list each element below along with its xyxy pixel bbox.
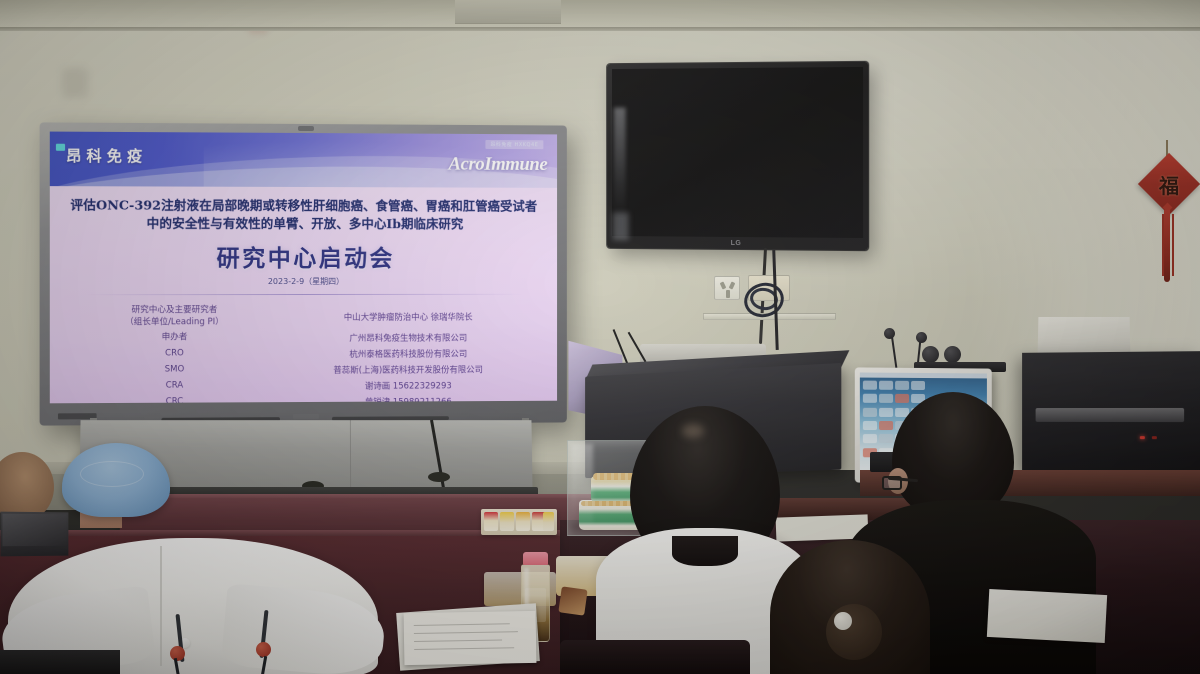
row-label: CRA bbox=[70, 378, 278, 395]
printer[interactable] bbox=[1022, 351, 1200, 473]
cord-bead bbox=[170, 646, 185, 661]
desktop-icon bbox=[879, 381, 893, 390]
fu-charm-decoration: 福 bbox=[1140, 140, 1196, 290]
ceiling-vent bbox=[455, 0, 561, 24]
bottle-cap bbox=[523, 552, 548, 565]
attendee-center-collar bbox=[672, 536, 738, 566]
text-line bbox=[414, 631, 518, 634]
outlet-slot bbox=[726, 290, 730, 298]
study-title-line-1: 评估ONC-392注射液在局部晚期或转移性肝细胞癌、食管癌、胃癌和肛管癌受试者 bbox=[70, 196, 537, 215]
power-outlet[interactable] bbox=[714, 276, 740, 300]
row-label: SMO bbox=[70, 362, 278, 379]
hair-tie bbox=[834, 612, 852, 630]
charm-tassel bbox=[1164, 210, 1170, 282]
charm-tassel-strand bbox=[1172, 214, 1174, 276]
dessert-piece bbox=[516, 512, 530, 531]
ceiling-molding bbox=[0, 27, 1200, 31]
hair-highlight bbox=[682, 424, 704, 438]
row-label: 申办者 bbox=[70, 330, 278, 347]
row-label-line-2: （组长单位/Leading PI） bbox=[70, 317, 278, 329]
brand-name-en: AcroImmune bbox=[448, 154, 547, 176]
chair-left bbox=[0, 650, 120, 674]
study-title-line-2: 中的安全性与有效性的单臂、开放、多中心Ib期临床研究 bbox=[70, 215, 537, 234]
display-ir-receiver bbox=[536, 413, 554, 418]
desktop-icon bbox=[911, 381, 925, 390]
presentation-display[interactable]: 昂科免疫 昂科免疫 HXKQ4E AcroImmune 评估ONC-392注射液… bbox=[40, 122, 567, 425]
row-label: CRO bbox=[70, 346, 278, 363]
ceiling bbox=[0, 0, 1200, 30]
slide-divider bbox=[84, 294, 523, 295]
row-value: 杭州泰格医药科技股份有限公司 bbox=[278, 346, 538, 363]
slide-body: 评估ONC-392注射液在局部晚期或转移性肝细胞癌、食管癌、胃癌和肛管癌受试者 … bbox=[50, 186, 557, 403]
desktop-icon bbox=[895, 394, 909, 403]
uniform-seam bbox=[160, 546, 162, 666]
laptop[interactable] bbox=[0, 512, 68, 557]
table-row: CRO 杭州泰格医药科技股份有限公司 bbox=[70, 346, 537, 363]
desktop-icon bbox=[879, 434, 893, 443]
cord-bead-secondary bbox=[256, 642, 271, 657]
table-row: CRC 曾锐津 15989211266 bbox=[70, 393, 537, 403]
stand-knob bbox=[428, 472, 450, 482]
text-line bbox=[414, 639, 502, 642]
row-value: 中山大学肿瘤防治中心 徐瑞华院长 bbox=[278, 303, 538, 330]
wall-mark bbox=[62, 68, 88, 98]
microphone-icon bbox=[884, 328, 895, 339]
presentation-slide: 昂科免疫 昂科免疫 HXKQ4E AcroImmune 评估ONC-392注射液… bbox=[50, 132, 557, 404]
desktop-icon bbox=[879, 408, 893, 417]
speaker-driver-secondary bbox=[944, 346, 961, 363]
slide-header-banner: 昂科免疫 昂科免疫 HXKQ4E AcroImmune bbox=[50, 132, 557, 188]
desktop-icon bbox=[879, 421, 893, 430]
fu-character: 福 bbox=[1147, 162, 1191, 206]
document-sheet-right bbox=[987, 589, 1107, 643]
desktop-icon bbox=[863, 421, 877, 430]
cap-fold bbox=[80, 461, 144, 487]
row-value: 谢诗画 15622329293 bbox=[278, 377, 538, 394]
row-value: 曾锐津 15989211266 bbox=[278, 393, 538, 403]
dessert-piece bbox=[500, 512, 514, 531]
tv-glare-lower bbox=[613, 212, 629, 240]
desktop-icon bbox=[863, 407, 877, 416]
row-label-line-1: 研究中心及主要研究者 bbox=[70, 305, 278, 317]
chair-back bbox=[560, 640, 750, 674]
printer-tray[interactable] bbox=[1036, 408, 1185, 422]
dessert-piece bbox=[484, 512, 498, 531]
printer-status-led bbox=[1140, 436, 1145, 439]
desktop-icon bbox=[863, 434, 877, 443]
row-label: 研究中心及主要研究者 （组长单位/Leading PI） bbox=[70, 303, 278, 330]
table-row: 研究中心及主要研究者 （组长单位/Leading PI） 中山大学肿瘤防治中心 … bbox=[70, 303, 537, 331]
printer-status-led-secondary bbox=[1152, 436, 1157, 439]
uniform-panel-right bbox=[221, 583, 388, 674]
desktop-icon bbox=[863, 394, 877, 403]
row-value: 广州昂科免疫生物技术有限公司 bbox=[278, 330, 538, 347]
desktop-speakers bbox=[922, 346, 992, 370]
case-glass-glare bbox=[571, 444, 593, 524]
laptop-lid bbox=[2, 514, 66, 547]
table-row: SMO 普蕊斯(上海)医药科技开发股份有限公司 bbox=[70, 361, 537, 379]
text-line bbox=[414, 647, 514, 650]
brand-registration-text: 昂科免疫 HXKQ4E bbox=[485, 140, 543, 149]
desktop-icon bbox=[895, 381, 909, 390]
speaker-driver bbox=[922, 346, 939, 363]
dessert-tray bbox=[481, 509, 557, 535]
outlet-slot bbox=[729, 281, 736, 289]
desktop-menubar bbox=[860, 372, 987, 378]
display-logo bbox=[293, 414, 319, 419]
desktop-icon bbox=[879, 394, 893, 403]
slide-date: 2023-2-9（星期四） bbox=[70, 276, 537, 287]
lg-logo: LG bbox=[731, 240, 742, 247]
table-row: 申办者 广州昂科免疫生物技术有限公司 bbox=[70, 330, 537, 347]
study-info-table: 研究中心及主要研究者 （组长单位/Leading PI） 中山大学肿瘤防治中心 … bbox=[70, 303, 537, 403]
wall-tv[interactable]: LG bbox=[607, 62, 868, 250]
document-sheet bbox=[404, 611, 537, 665]
slide-subtitle: 研究中心启动会 bbox=[70, 239, 537, 273]
outlet-slot bbox=[720, 281, 727, 289]
row-value: 普蕊斯(上海)医药科技开发股份有限公司 bbox=[278, 361, 538, 378]
paper-stack bbox=[1038, 317, 1131, 355]
display-bezel: 昂科免疫 昂科免疫 HXKQ4E AcroImmune 评估ONC-392注射液… bbox=[40, 122, 567, 425]
meeting-room-photo: LG 福 昂科免疫 昂科免疫 HX bbox=[0, 0, 1200, 674]
panel-seam bbox=[350, 420, 351, 490]
tv-glare bbox=[614, 108, 626, 217]
brand-name-cn: 昂科免疫 bbox=[66, 145, 147, 167]
attendee-hair-bun bbox=[826, 604, 882, 660]
brand-mark-icon bbox=[56, 144, 65, 151]
row-label: CRC bbox=[70, 394, 278, 403]
desktop-icon bbox=[863, 381, 877, 390]
text-line bbox=[414, 623, 510, 626]
dessert-piece bbox=[543, 512, 554, 531]
snack-item bbox=[558, 586, 587, 615]
microphone-icon-secondary bbox=[916, 332, 927, 343]
tv-screen bbox=[612, 67, 863, 238]
